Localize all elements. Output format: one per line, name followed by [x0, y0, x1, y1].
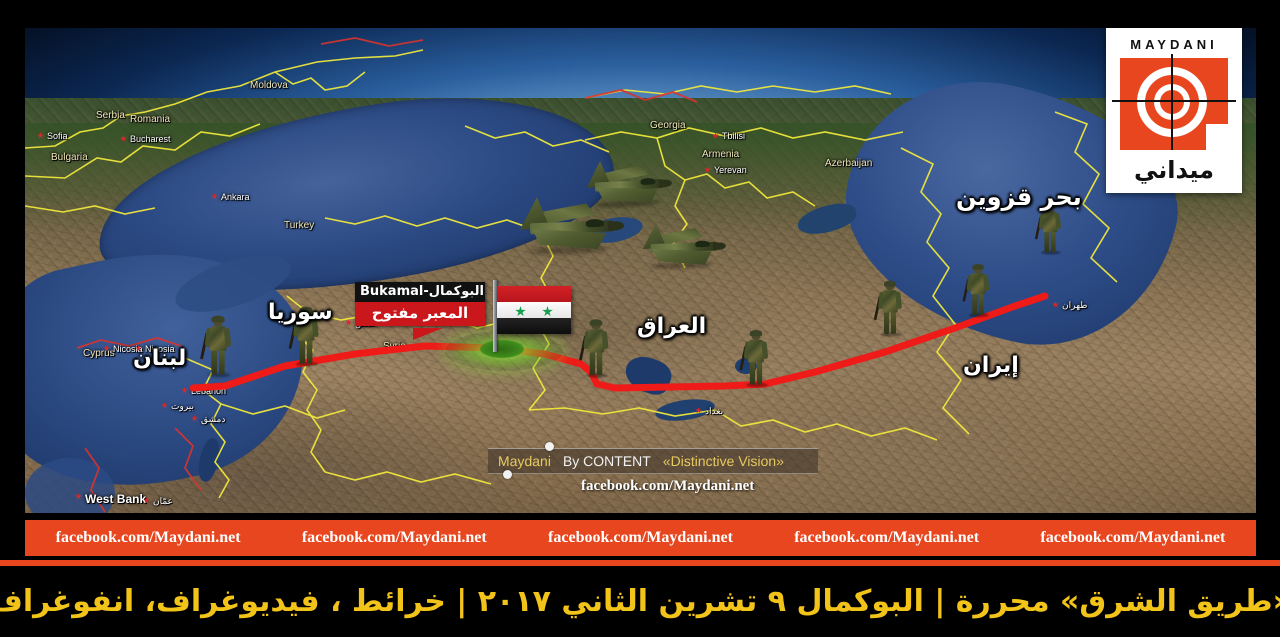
fighter-jet-icon: [511, 196, 625, 258]
soldier-figure: [584, 321, 607, 377]
watermark-slogan: «Distinctive Vision»: [663, 453, 784, 469]
facebook-strip[interactable]: facebook.com/Maydani.netfacebook.com/May…: [25, 520, 1256, 556]
watermark-facebook[interactable]: facebook.com/Maydani.net: [581, 478, 754, 495]
syria-flag-icon: [497, 286, 571, 334]
watermark-brand: Maydani: [498, 453, 551, 469]
bukamal-target-core: [480, 340, 524, 358]
arabic-country-label: العراق: [637, 314, 706, 339]
logo-arabic: ميداني: [1134, 158, 1214, 182]
arabic-country-label: سوريا: [268, 300, 333, 325]
soldier-figure: [879, 282, 901, 335]
headline-bar: «طريق الشرق» محررة | البوكمال ٩ تشرين ال…: [0, 566, 1280, 637]
watermark-by: By CONTENT: [563, 453, 651, 469]
facebook-url[interactable]: facebook.com/Maydani.net: [302, 529, 487, 547]
fighter-jet-icon: [635, 222, 726, 271]
facebook-url[interactable]: facebook.com/Maydani.net: [56, 529, 241, 547]
soldier-figure: [1040, 204, 1061, 254]
soldier-figure: [967, 266, 988, 317]
arabic-country-label: إيران: [963, 353, 1019, 378]
facebook-url[interactable]: facebook.com/Maydani.net: [794, 529, 979, 547]
watermark-dot: [545, 442, 554, 451]
arabic-country-label: لبنان: [133, 346, 186, 371]
callout-pointer: [413, 328, 443, 340]
map-image[interactable]: BulgariaRomaniaMoldovaSerbiaBucharestSof…: [25, 28, 1256, 513]
watermark-bar: Maydani By CONTENT «Distinctive Vision»: [488, 448, 818, 474]
facebook-url[interactable]: facebook.com/Maydani.net: [1040, 529, 1225, 547]
callout-title: Bukamal-البوكمال: [355, 282, 485, 302]
callout-status: المعبر مفتوح: [355, 302, 485, 326]
screenshot-root: BulgariaRomaniaMoldovaSerbiaBucharestSof…: [0, 0, 1280, 637]
maydani-logo[interactable]: MAYDANI ميداني: [1106, 28, 1242, 193]
facebook-url[interactable]: facebook.com/Maydani.net: [548, 529, 733, 547]
soldier-figure: [745, 332, 768, 387]
crosshair-target-icon: [1120, 58, 1228, 150]
logo-wordmark: MAYDANI: [1130, 37, 1217, 52]
bukamal-callout[interactable]: Bukamal-البوكمال المعبر مفتوح: [355, 282, 485, 326]
map-canvas: BulgariaRomaniaMoldovaSerbiaBucharestSof…: [25, 28, 1256, 513]
headline-text: «طريق الشرق» محررة | البوكمال ٩ تشرين ال…: [0, 584, 1280, 619]
arabic-country-label: بحر قزوين: [956, 183, 1082, 211]
watermark-dot: [503, 470, 512, 479]
soldier-figure: [206, 318, 231, 377]
